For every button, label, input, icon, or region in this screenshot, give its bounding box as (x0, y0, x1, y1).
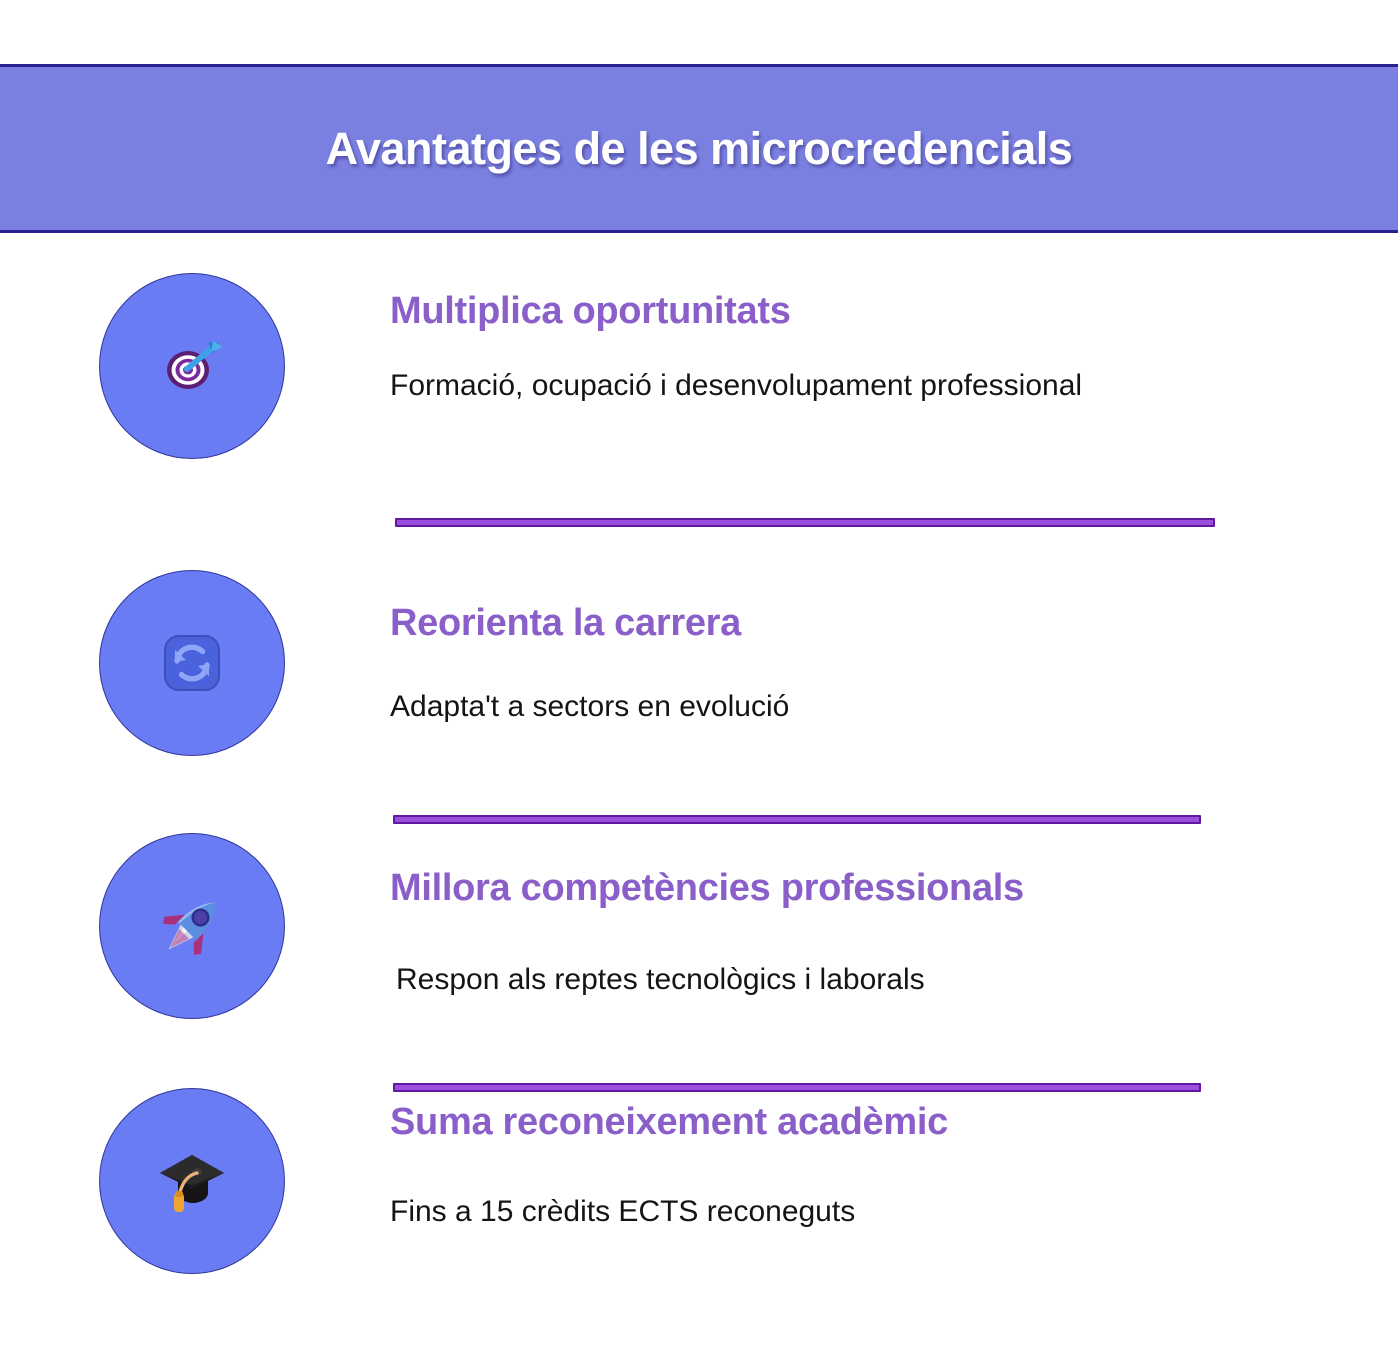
icon-column (0, 1088, 390, 1274)
page-title: Avantatges de les microcredencials (326, 123, 1073, 175)
item-description: Fins a 15 crèdits ECTS reconeguts (390, 1192, 1238, 1233)
list-item: Reorienta la carrera Adapta't a sectors … (0, 570, 1398, 756)
text-column: Multiplica oportunitats Formació, ocupac… (390, 270, 1398, 406)
item-heading: Millora competències professionals (390, 867, 1238, 910)
refresh-sync-icon (161, 632, 223, 694)
rocket-icon (153, 887, 231, 965)
item-description: Respon als reptes tecnològics i laborals (390, 960, 1238, 1001)
list-item: Suma reconeixement acadèmic Fins a 15 cr… (0, 1088, 1398, 1274)
item-heading: Suma reconeixement acadèmic (390, 1101, 1238, 1144)
item-description: Formació, ocupació i desenvolupament pro… (390, 366, 1238, 407)
header-banner: Avantatges de les microcredencials (0, 64, 1398, 233)
icon-column (0, 570, 390, 756)
icon-column (0, 833, 390, 1019)
icon-column (0, 270, 390, 459)
dart-target-icon (156, 330, 228, 402)
badge-circle (99, 1088, 285, 1274)
badge-circle (99, 833, 285, 1019)
list-item: Multiplica oportunitats Formació, ocupac… (0, 270, 1398, 459)
section-divider (393, 815, 1201, 824)
section-divider (393, 1083, 1201, 1092)
badge-circle (99, 570, 285, 756)
item-heading: Reorienta la carrera (390, 602, 1238, 645)
text-column: Millora competències professionals Respo… (390, 833, 1398, 1000)
section-divider (395, 518, 1215, 527)
badge-circle (99, 273, 285, 459)
list-item: Millora competències professionals Respo… (0, 833, 1398, 1019)
text-column: Reorienta la carrera Adapta't a sectors … (390, 570, 1398, 727)
graduation-cap-icon (152, 1141, 232, 1221)
item-heading: Multiplica oportunitats (390, 290, 1238, 333)
item-description: Adapta't a sectors en evolució (390, 687, 1238, 728)
text-column: Suma reconeixement acadèmic Fins a 15 cr… (390, 1088, 1398, 1232)
